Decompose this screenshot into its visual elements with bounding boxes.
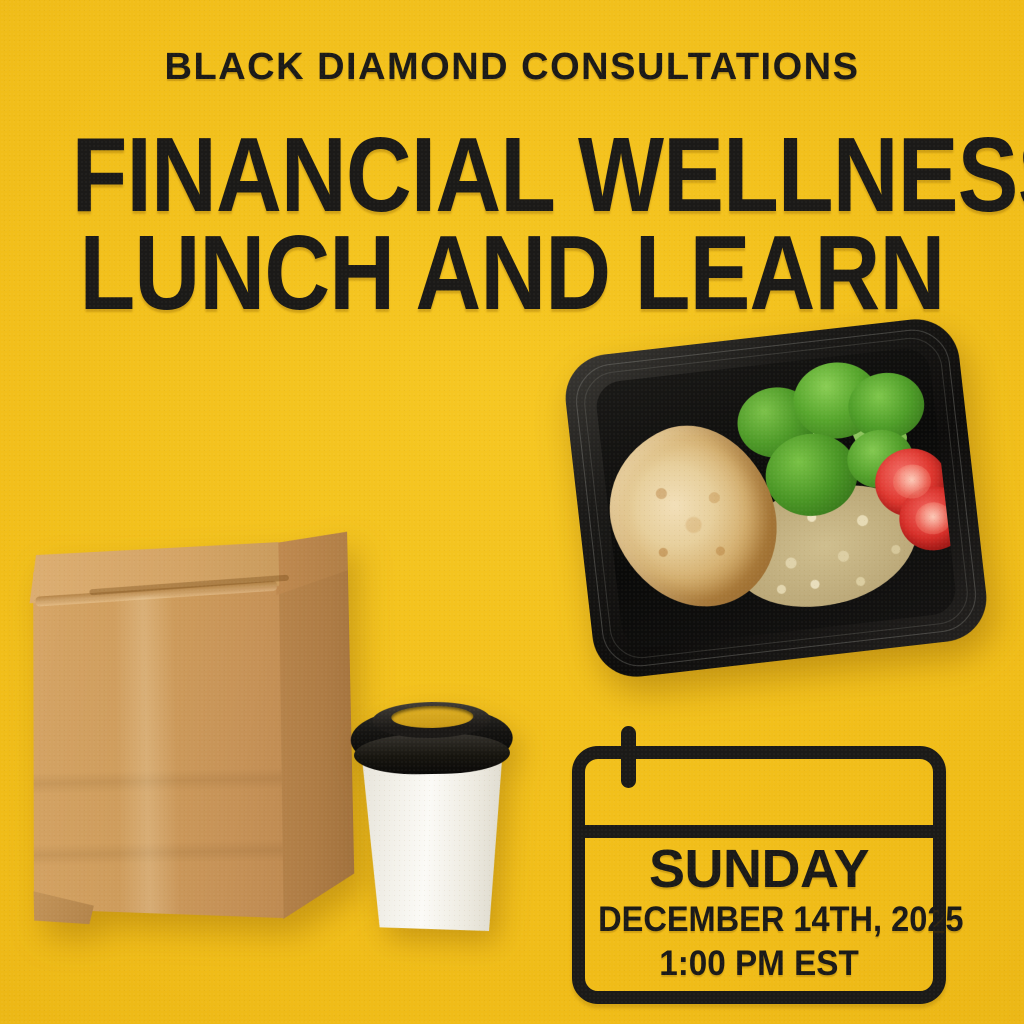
event-time: 1:00 PM EST xyxy=(595,942,924,986)
event-details: SUNDAY DECEMBER 14TH, 2025 1:00 PM EST xyxy=(586,840,932,986)
page-title: FINANCIAL WELLNESS LUNCH AND LEARN xyxy=(0,126,1024,322)
event-day: SUNDAY xyxy=(586,840,932,898)
meal-tray-well xyxy=(594,346,958,650)
calendar-header-divider xyxy=(572,825,946,838)
calendar-ring-tab-icon xyxy=(621,726,636,788)
page-title-line-2: LUNCH AND LEARN xyxy=(72,224,953,322)
paper-bag-side-panel xyxy=(275,550,355,919)
page-title-line-1: FINANCIAL WELLNESS xyxy=(72,126,953,224)
event-date: DECEMBER 14TH, 2025 xyxy=(598,898,920,942)
brand-name: BLACK DIAMOND CONSULTATIONS xyxy=(0,46,1024,89)
event-date-card: SUNDAY DECEMBER 14TH, 2025 1:00 PM EST xyxy=(566,718,952,1010)
paper-bag-image xyxy=(26,517,354,924)
poster-canvas: BLACK DIAMOND CONSULTATIONS FINANCIAL WE… xyxy=(0,0,1024,1024)
meal-tray-image xyxy=(561,315,991,682)
coffee-cup-image xyxy=(350,693,516,934)
paper-bag-front-panel xyxy=(27,560,286,923)
